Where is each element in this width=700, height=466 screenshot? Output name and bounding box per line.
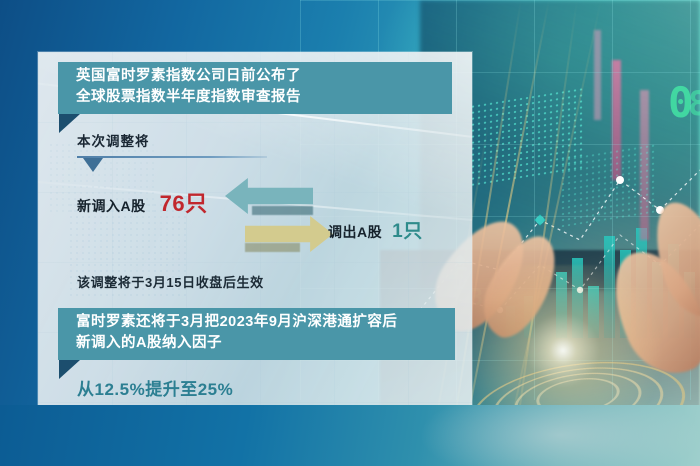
bottom-gradient-strip [0,405,700,466]
inflow-row: 新调入A股 76只 [77,186,208,218]
ratio-text: 从12.5%提升至25% [77,375,233,400]
exchange-arrows [222,178,332,256]
infographic-canvas: 0 8 5 3 4 [0,0,700,466]
headline-banner-primary-line1: 英国富时罗素指数公司日前公布了 [76,66,436,87]
outflow-value: 1只 [392,216,423,243]
arrow-left-shadow [252,206,313,215]
headline-banner-secondary-line2: 新调入的A股纳入因子 [76,333,439,354]
triangle-down-icon [83,158,103,172]
arrow-right-shadow [245,243,300,252]
effective-date-text: 该调整将于3月15日收盘后生效 [77,272,264,291]
section-title: 本次调整将 [77,130,150,150]
headline-banner-primary-line2: 全球股票指数半年度指数审查报告 [76,87,436,108]
inflow-label: 新调入A股 [77,196,146,216]
headline-banner-secondary-line1: 富时罗素还将于3月把2023年9月沪深港通扩容后 [76,312,439,333]
outflow-row: 调出A股 1只 [328,216,423,243]
inflow-value: 76只 [160,186,208,218]
outflow-label: 调出A股 [328,222,382,242]
headline-banner-primary: 英国富时罗素指数公司日前公布了 全球股票指数半年度指数审查报告 [58,62,452,114]
section-divider [77,156,267,158]
headline-banner-secondary: 富时罗素还将于3月把2023年9月沪深港通扩容后 新调入的A股纳入因子 [58,308,455,360]
